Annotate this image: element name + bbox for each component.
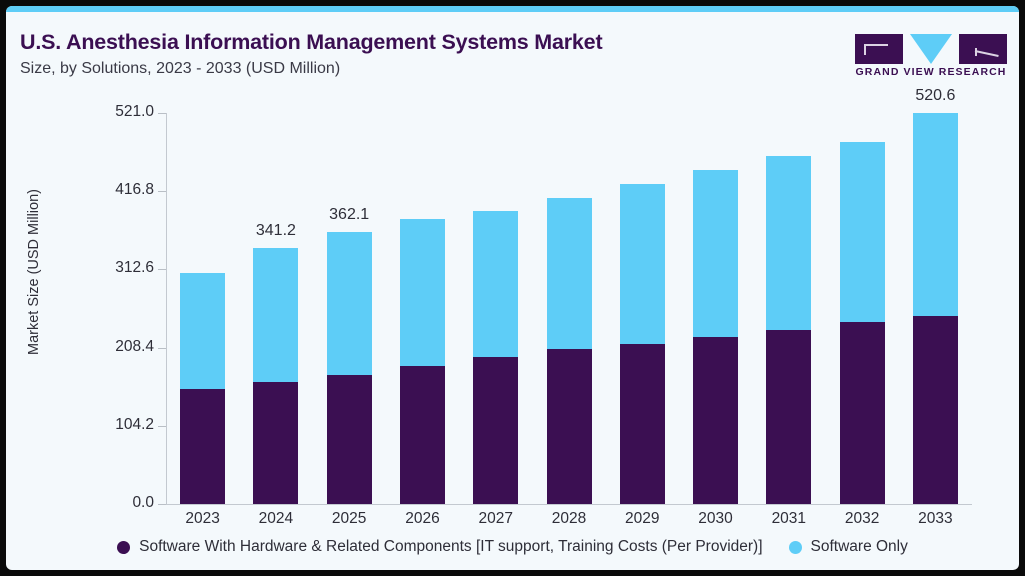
bar-value-label-2024: 341.2 (231, 222, 321, 240)
y-axis-tick-mark (158, 191, 166, 192)
bar-segment-software-with-hardware[interactable] (400, 366, 445, 504)
bar-segment-software-with-hardware[interactable] (547, 349, 592, 504)
y-axis-line (166, 113, 167, 505)
bar-value-label-2025: 362.1 (304, 206, 394, 224)
bar-segment-software-only[interactable] (547, 198, 592, 350)
chart-card: U.S. Anesthesia Information Management S… (6, 6, 1019, 570)
page-subtitle: Size, by Solutions, 2023 - 2033 (USD Mil… (20, 60, 340, 78)
y-axis-title: Market Size (USD Million) (26, 162, 42, 382)
logo-triangle-icon (910, 34, 952, 64)
bar-2028[interactable] (547, 198, 592, 504)
bar-segment-software-only[interactable] (327, 232, 372, 375)
y-axis-tick-mark (158, 113, 166, 114)
bar-2032[interactable] (840, 142, 885, 504)
legend-swatch-icon (117, 541, 130, 554)
bar-2030[interactable] (693, 170, 738, 504)
bar-segment-software-with-hardware[interactable] (253, 382, 298, 504)
y-axis-tick-label: 312.6 (84, 259, 154, 277)
bar-segment-software-with-hardware[interactable] (327, 375, 372, 504)
bar-segment-software-only[interactable] (253, 248, 298, 382)
y-axis-tick-mark (158, 426, 166, 427)
bar-2025[interactable] (327, 232, 372, 504)
legend-label: Software Only (811, 538, 908, 556)
logo-right-mark2-icon (975, 48, 977, 56)
bar-segment-software-only[interactable] (400, 219, 445, 366)
bar-segment-software-only[interactable] (180, 273, 225, 389)
bar-segment-software-only[interactable] (766, 156, 811, 330)
y-axis-tick-mark (158, 504, 166, 505)
bar-segment-software-with-hardware[interactable] (766, 330, 811, 504)
bar-2026[interactable] (400, 219, 445, 504)
bar-segment-software-with-hardware[interactable] (693, 337, 738, 504)
y-axis-tick-label: 416.8 (84, 181, 154, 199)
legend-item-software-with-hardware[interactable]: Software With Hardware & Related Compone… (117, 538, 762, 556)
bar-segment-software-with-hardware[interactable] (180, 389, 225, 504)
logo-left-mark-icon (864, 44, 888, 55)
bar-2023[interactable] (180, 273, 225, 504)
chart-header: U.S. Anesthesia Information Management S… (6, 12, 1019, 84)
grand-view-research-logo: GRAND VIEW RESEARCH (855, 34, 1007, 82)
bar-2033[interactable] (913, 113, 958, 504)
logo-right-block-icon (959, 34, 1007, 64)
bar-segment-software-only[interactable] (840, 142, 885, 322)
bar-2031[interactable] (766, 156, 811, 504)
x-axis-line (166, 504, 972, 505)
bar-2024[interactable] (253, 248, 298, 504)
bar-2029[interactable] (620, 184, 665, 504)
legend-item-software-only[interactable]: Software Only (789, 538, 908, 556)
y-axis-tick-label: 521.0 (84, 103, 154, 121)
bar-segment-software-with-hardware[interactable] (913, 316, 958, 504)
chart-plot-area: Market Size (USD Million) 0.0104.2208.43… (6, 84, 1019, 524)
chart-legend: Software With Hardware & Related Compone… (6, 530, 1019, 564)
y-axis-tick-mark (158, 348, 166, 349)
bar-2027[interactable] (473, 211, 518, 504)
bar-segment-software-only[interactable] (620, 184, 665, 345)
x-axis-tick-label-2033: 2033 (890, 510, 980, 528)
legend-swatch-icon (789, 541, 802, 554)
logo-wordmark: GRAND VIEW RESEARCH (855, 66, 1007, 78)
y-axis-tick-label: 104.2 (84, 416, 154, 434)
bar-segment-software-only[interactable] (913, 113, 958, 316)
y-axis-tick-label: 208.4 (84, 338, 154, 356)
page-title: U.S. Anesthesia Information Management S… (20, 30, 602, 55)
bar-segment-software-with-hardware[interactable] (473, 357, 518, 504)
legend-label: Software With Hardware & Related Compone… (139, 538, 762, 556)
bar-segment-software-with-hardware[interactable] (840, 322, 885, 504)
bar-segment-software-with-hardware[interactable] (620, 344, 665, 504)
bar-value-label-2033: 520.6 (890, 87, 980, 105)
bar-segment-software-only[interactable] (693, 170, 738, 337)
y-axis-tick-label: 0.0 (84, 494, 154, 512)
bar-segment-software-only[interactable] (473, 211, 518, 357)
y-axis-tick-mark (158, 269, 166, 270)
